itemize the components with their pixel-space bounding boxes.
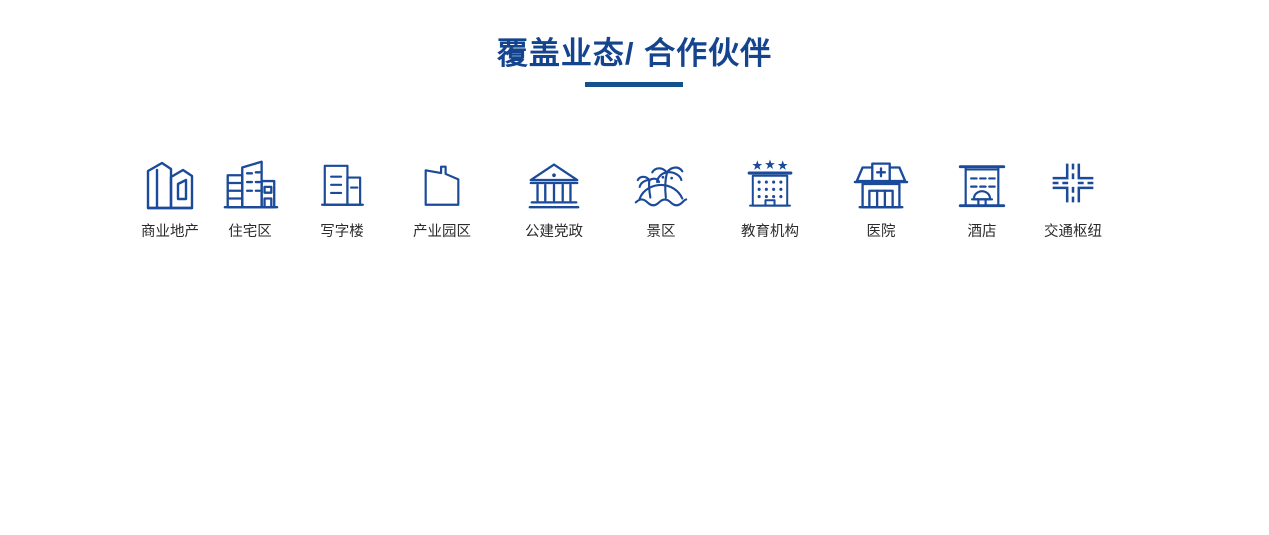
office-tower-icon	[287, 143, 397, 215]
category-item-education[interactable]: 教育机构	[715, 143, 825, 241]
category-item-hospital[interactable]: 医院	[826, 143, 936, 241]
category-item-transport[interactable]: 交通枢纽	[1018, 143, 1128, 241]
category-item-scenic[interactable]: 景区	[606, 143, 716, 241]
crossroads-transport-icon	[1018, 143, 1128, 215]
page-title: 覆盖业态/ 合作伙伴	[497, 34, 772, 74]
page-title-block: 覆盖业态/ 合作伙伴	[0, 34, 1269, 74]
school-stars-icon	[715, 143, 825, 215]
category-label: 教育机构	[715, 223, 825, 241]
category-item-industrial-park[interactable]: 产业园区	[387, 143, 497, 241]
category-label: 医院	[826, 223, 936, 241]
category-label: 景区	[606, 223, 716, 241]
category-label: 交通枢纽	[1018, 223, 1128, 241]
page-root: 覆盖业态/ 合作伙伴 商业地产	[0, 0, 1269, 535]
industrial-park-icon	[387, 143, 497, 215]
category-icon-row: 商业地产 住宅区	[0, 143, 1269, 248]
scenic-island-palm-icon	[606, 143, 716, 215]
category-item-government[interactable]: 公建党政	[499, 143, 609, 241]
category-label: 公建党政	[499, 223, 609, 241]
title-underline	[585, 82, 683, 87]
category-item-office[interactable]: 写字楼	[287, 143, 397, 241]
category-label: 产业园区	[387, 223, 497, 241]
hospital-cross-icon	[826, 143, 936, 215]
category-label: 写字楼	[287, 223, 397, 241]
government-building-icon	[499, 143, 609, 215]
